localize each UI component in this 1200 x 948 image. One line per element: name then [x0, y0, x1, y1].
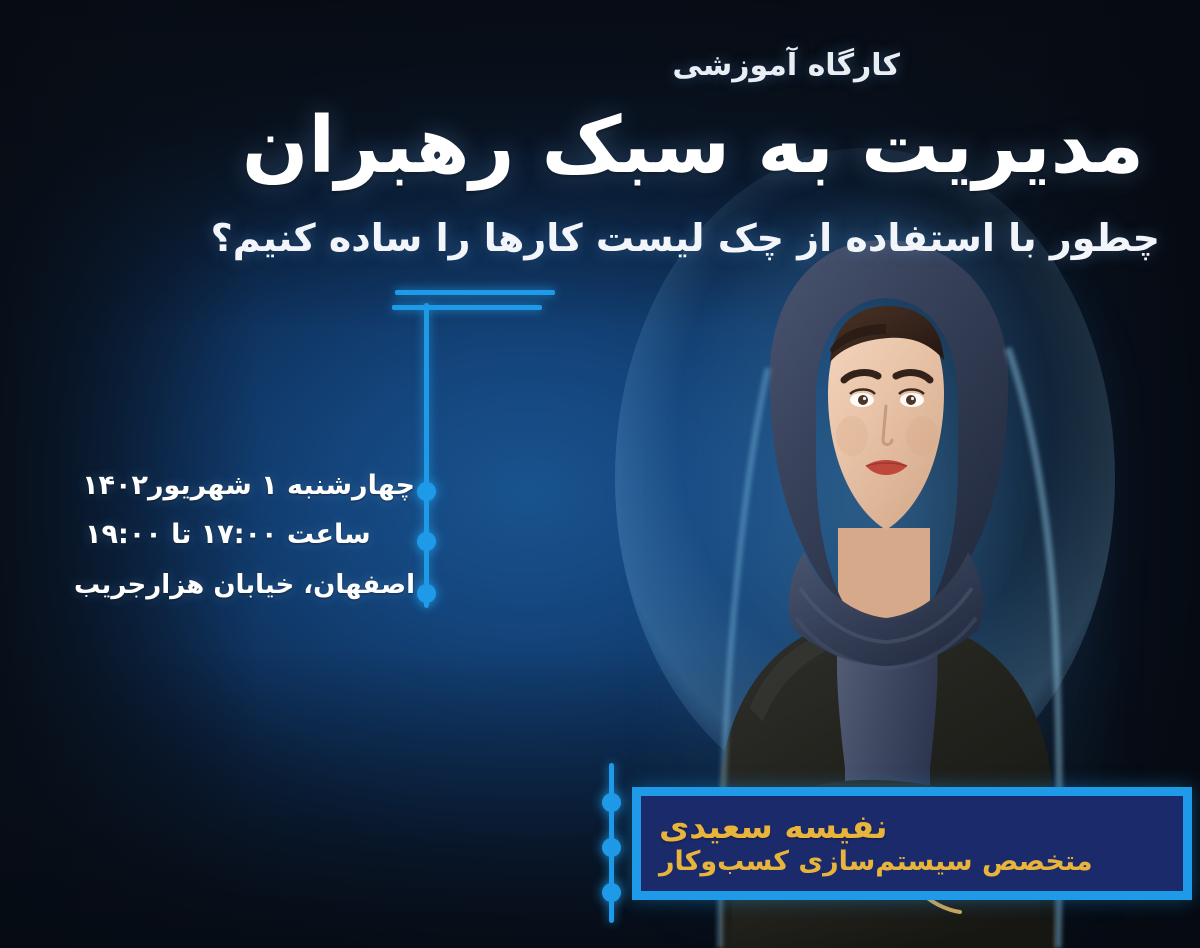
- event-date: چهارشنبه ۱ شهریور۱۴۰۲: [85, 470, 415, 501]
- speaker-plaque: نفیسه سعیدی متخصص سیستم‌سازی کسب‌وکار: [632, 787, 1192, 900]
- poster-subtitle: چطور با استفاده از چک لیست کارها را ساده…: [280, 215, 1160, 263]
- timeline-dot-location: [417, 584, 436, 603]
- timeline-line-main: [424, 303, 429, 608]
- timeline-dot-lower-3: [602, 883, 621, 902]
- accent-rule-top: [395, 290, 555, 295]
- event-time: ساعت ۱۷:۰۰ تا ۱۹:۰۰: [85, 519, 415, 550]
- timeline-dot-date: [417, 482, 436, 501]
- poster-title: مدیریت به سبک رهبران: [264, 100, 1144, 192]
- speaker-plaque-inner: نفیسه سعیدی متخصص سیستم‌سازی کسب‌وکار: [641, 796, 1183, 891]
- speaker-role: متخصص سیستم‌سازی کسب‌وکار: [659, 846, 1093, 877]
- poster-kicker: کارگاه آموزشی: [672, 48, 900, 83]
- speaker-name: نفیسه سعیدی: [659, 808, 888, 846]
- timeline-dot-time: [417, 532, 436, 551]
- timeline-dot-lower-1: [602, 793, 621, 812]
- event-location: اصفهان، خیابان هزارجریب: [85, 570, 415, 600]
- workshop-poster: کارگاه آموزشی مدیریت به سبک رهبران چطور …: [0, 0, 1200, 948]
- accent-rule-bottom: [392, 305, 542, 310]
- timeline-dot-lower-2: [602, 838, 621, 857]
